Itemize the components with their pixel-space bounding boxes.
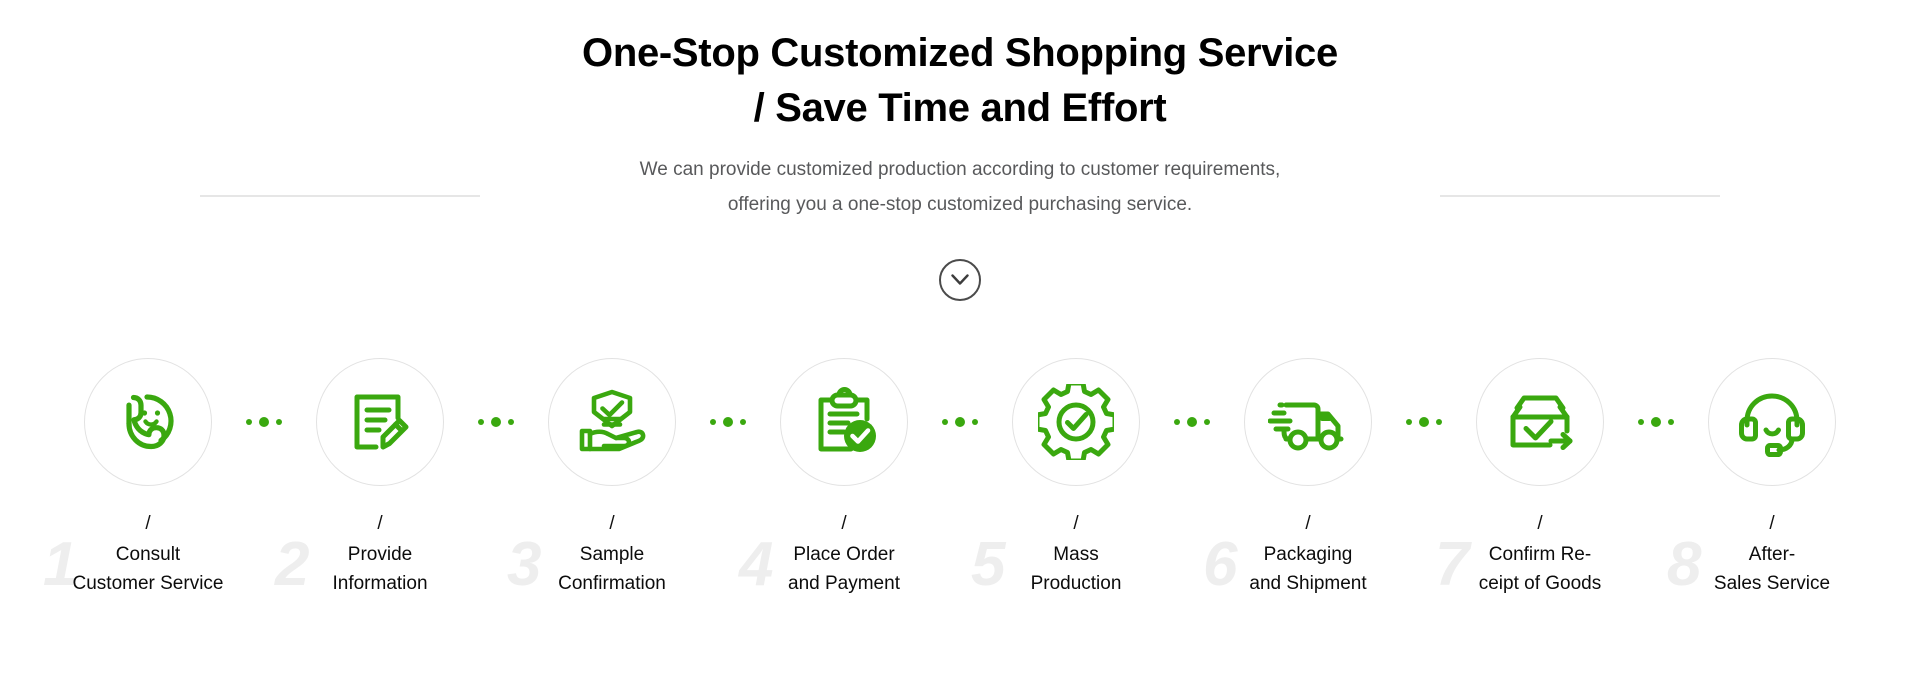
step-label-6: Packagingand Shipment [1203, 540, 1413, 598]
step-label-2: ProvideInformation [275, 540, 485, 598]
headset-icon [1734, 385, 1810, 459]
step-label-1: ConsultCustomer Service [43, 540, 253, 598]
three-dots-icon [478, 417, 514, 427]
phone-smile-icon [111, 385, 185, 459]
step-label-5: MassProduction [971, 540, 1181, 598]
page-root: One-Stop Customized Shopping Service / S… [0, 0, 1920, 673]
three-dots-icon [1406, 417, 1442, 427]
hand-shield-check-icon [574, 384, 650, 460]
step-label-line1-8: After- [1667, 540, 1877, 569]
step-separator-7 [1629, 358, 1683, 486]
step-label-line2-8: Sales Service [1667, 569, 1877, 598]
step-label-4: Place Orderand Payment [739, 540, 949, 598]
process-steps: 1/ConsultCustomer Service 2/ProvideInfor… [0, 358, 1920, 598]
page-title-line-1: One-Stop Customized Shopping Service [0, 26, 1920, 81]
step-label-3: SampleConfirmation [507, 540, 717, 598]
step-icon-circle-7 [1476, 358, 1604, 486]
step-slash-3: / [507, 512, 717, 536]
step-slash-1: / [43, 512, 253, 536]
step-label-7: Confirm Re-ceipt of Goods [1435, 540, 1645, 598]
step-icon-circle-6 [1244, 358, 1372, 486]
step-label-line2-7: ceipt of Goods [1435, 569, 1645, 598]
step-label-line1-3: Sample [507, 540, 717, 569]
delivery-truck-icon [1268, 385, 1348, 459]
step-label-line1-6: Packaging [1203, 540, 1413, 569]
process-step-2[interactable]: 2/ProvideInformation [291, 358, 469, 598]
clipboard-check-icon [807, 385, 881, 459]
step-slash-8: / [1667, 512, 1877, 536]
process-step-1[interactable]: 1/ConsultCustomer Service [59, 358, 237, 598]
page-subtitle-line-1: We can provide customized production acc… [0, 152, 1920, 187]
step-label-line1-5: Mass [971, 540, 1181, 569]
page-subtitle-line-2: offering you a one-stop customized purch… [0, 187, 1920, 222]
step-slash-7: / [1435, 512, 1645, 536]
box-check-arrow-icon [1502, 385, 1578, 459]
step-text-4: 4/Place Orderand Payment [739, 512, 949, 598]
decorative-rule-left [200, 195, 480, 197]
step-label-line1-1: Consult [43, 540, 253, 569]
step-icon-circle-3 [548, 358, 676, 486]
step-slash-2: / [275, 512, 485, 536]
process-step-4[interactable]: 4/Place Orderand Payment [755, 358, 933, 598]
three-dots-icon [1638, 417, 1674, 427]
step-separator-6 [1397, 358, 1451, 486]
step-separator-1 [237, 358, 291, 486]
page-title-line-2: / Save Time and Effort [0, 81, 1920, 136]
step-text-7: 7/Confirm Re-ceipt of Goods [1435, 512, 1645, 598]
step-separator-2 [469, 358, 523, 486]
three-dots-icon [1174, 417, 1210, 427]
step-text-6: 6/Packagingand Shipment [1203, 512, 1413, 598]
page-subtitle: We can provide customized production acc… [0, 152, 1920, 222]
step-label-line2-5: Production [971, 569, 1181, 598]
step-label-line2-2: Information [275, 569, 485, 598]
scroll-down-button[interactable] [939, 259, 981, 301]
step-label-8: After-Sales Service [1667, 540, 1877, 598]
step-text-8: 8/After-Sales Service [1667, 512, 1877, 598]
step-label-line2-3: Confirmation [507, 569, 717, 598]
process-step-3[interactable]: 3/SampleConfirmation [523, 358, 701, 598]
step-label-line1-4: Place Order [739, 540, 949, 569]
step-icon-circle-8 [1708, 358, 1836, 486]
step-text-3: 3/SampleConfirmation [507, 512, 717, 598]
process-step-5[interactable]: 5/MassProduction [987, 358, 1165, 598]
process-step-8[interactable]: 8/After-Sales Service [1683, 358, 1861, 598]
page-title: One-Stop Customized Shopping Service / S… [0, 26, 1920, 136]
step-separator-3 [701, 358, 755, 486]
step-text-5: 5/MassProduction [971, 512, 1181, 598]
step-separator-5 [1165, 358, 1219, 486]
step-separator-4 [933, 358, 987, 486]
step-slash-4: / [739, 512, 949, 536]
step-text-2: 2/ProvideInformation [275, 512, 485, 598]
step-label-line2-4: and Payment [739, 569, 949, 598]
process-step-7[interactable]: 7/Confirm Re-ceipt of Goods [1451, 358, 1629, 598]
process-step-6[interactable]: 6/Packagingand Shipment [1219, 358, 1397, 598]
step-text-1: 1/ConsultCustomer Service [43, 512, 253, 598]
step-icon-circle-2 [316, 358, 444, 486]
step-slash-6: / [1203, 512, 1413, 536]
page-header: One-Stop Customized Shopping Service / S… [0, 0, 1920, 222]
step-slash-5: / [971, 512, 1181, 536]
three-dots-icon [942, 417, 978, 427]
gear-check-icon [1038, 384, 1114, 460]
step-icon-circle-1 [84, 358, 212, 486]
step-icon-circle-4 [780, 358, 908, 486]
step-icon-circle-5 [1012, 358, 1140, 486]
three-dots-icon [710, 417, 746, 427]
step-label-line1-2: Provide [275, 540, 485, 569]
step-label-line2-6: and Shipment [1203, 569, 1413, 598]
three-dots-icon [246, 417, 282, 427]
chevron-down-icon [951, 274, 969, 286]
step-label-line1-7: Confirm Re- [1435, 540, 1645, 569]
decorative-rule-right [1440, 195, 1720, 197]
step-label-line2-1: Customer Service [43, 569, 253, 598]
document-pencil-icon [343, 385, 417, 459]
